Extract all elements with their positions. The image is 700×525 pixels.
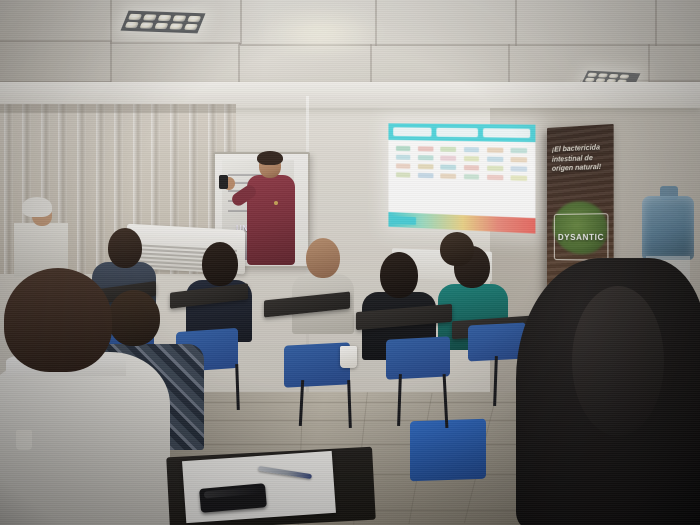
- light-glow: [255, 8, 385, 54]
- foreground-attendee-left-head: [4, 268, 112, 372]
- slide-column: [439, 147, 458, 215]
- slide-column: [416, 146, 435, 214]
- curtain-rod-shadow: [0, 104, 236, 113]
- classroom-photo: UN: [0, 0, 700, 525]
- paper-cup-secondary: [16, 430, 32, 450]
- slide-column: [509, 148, 529, 218]
- chair-seat-foreground: [410, 419, 486, 482]
- attendee-head: [108, 290, 160, 346]
- attendee-head: [108, 228, 142, 268]
- attendee-row-mid-3: [292, 238, 354, 334]
- attendee-head: [202, 242, 238, 286]
- slide-header-chip-1: [394, 127, 432, 136]
- slide-column: [462, 147, 482, 216]
- attendee-elderly-man: [14, 197, 68, 277]
- presenter-hair: [257, 151, 283, 165]
- projected-slide: [388, 123, 535, 233]
- slide-footer-label: [391, 216, 416, 225]
- banner-headline: ¡El bactericida intestinal de origen nat…: [552, 143, 611, 175]
- slide-column: [485, 147, 505, 216]
- slide-header-chip-2: [436, 128, 478, 138]
- slide-column: [394, 146, 413, 213]
- banner-product-box: DYSANTIC: [554, 213, 609, 261]
- banner-brand-text: DYSANTIC: [558, 232, 604, 241]
- water-cooler-bottle: [642, 196, 694, 260]
- chair-seat: [386, 336, 450, 379]
- presenter-remote: [219, 175, 228, 189]
- attendee-head: [440, 232, 474, 266]
- presenter-shirt-detail: [274, 201, 278, 205]
- attendee-head: [380, 252, 418, 298]
- attendee-head: [306, 238, 340, 278]
- ceiling-light-fixture: [121, 11, 206, 34]
- slide-body: [388, 140, 535, 218]
- attendee-hair: [22, 197, 52, 217]
- paper-cup: [340, 346, 357, 368]
- foreground-attendee-hair-highlight: [572, 286, 664, 436]
- attendee-back-row: [432, 232, 486, 276]
- slide-header-chip-3: [483, 128, 530, 138]
